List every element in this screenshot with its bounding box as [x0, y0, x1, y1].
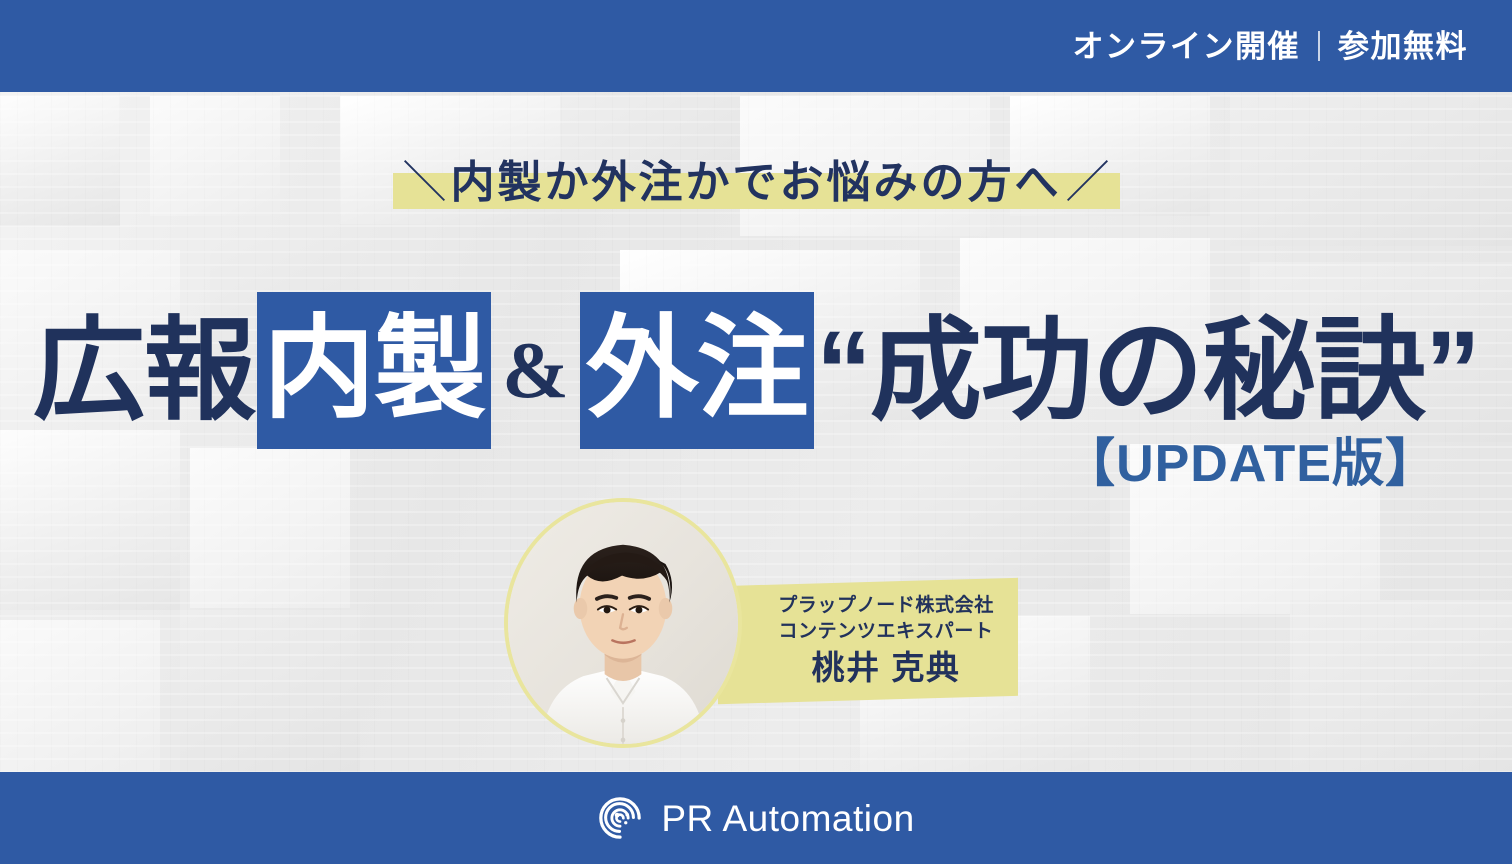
- headline-quote-open: “: [816, 299, 870, 442]
- topbar-divider: [1318, 31, 1320, 61]
- spiral-logo-icon: [597, 795, 643, 841]
- headline-row: 広報内製&外注“成功の秘訣”: [33, 292, 1479, 449]
- webinar-banner: オンライン開催 参加無料 ＼内製か外注かでお悩みの方へ／ 広報内製&外注“成功の…: [0, 0, 1512, 864]
- headline-ampersand: &: [493, 331, 578, 411]
- subtitle-text-row: ＼内製か外注かでお悩みの方へ／: [399, 155, 1114, 211]
- speaker-section: プラップノード株式会社 コンテンツエキスパート 桃井 克典: [504, 498, 1034, 760]
- speaker-portrait-photo: [504, 498, 742, 748]
- footer-logo-text: PR Automation: [661, 800, 914, 837]
- speaker-info: プラップノード株式会社 コンテンツエキスパート 桃井 克典: [718, 582, 1018, 700]
- top-info-bar-content: オンライン開催 参加無料: [1073, 31, 1469, 62]
- headline-quote-close: ”: [1425, 299, 1479, 442]
- free-admission-label: 参加無料: [1338, 31, 1468, 62]
- headline-gaichu-box: 外注: [580, 292, 814, 449]
- subtitle-open-slash: ＼: [399, 158, 451, 207]
- subtitle-text: 内製か外注かでお悩みの方へ: [451, 158, 1062, 207]
- speaker-role: コンテンツエキスパート: [778, 620, 993, 644]
- subtitle-box: ＼内製か外注かでお悩みの方へ／: [393, 155, 1120, 211]
- speaker-name: 桃井 克典: [812, 648, 961, 688]
- headline-naisei-box: 内製: [257, 292, 491, 449]
- headline-kouhou: 広報: [33, 299, 255, 442]
- footer-bar: PR Automation: [0, 772, 1512, 864]
- portrait-illustration: [508, 502, 738, 744]
- speaker-company: プラップノード株式会社: [778, 594, 994, 618]
- online-event-label: オンライン開催: [1073, 31, 1301, 62]
- update-version-badge: 【UPDATE版】: [1063, 438, 1438, 490]
- main-headline: 広報内製&外注“成功の秘訣”: [0, 292, 1512, 449]
- headline-seikou-no-hiketsu: 成功の秘訣: [870, 299, 1425, 442]
- top-info-bar: オンライン開催 参加無料: [0, 0, 1512, 92]
- subtitle-section: ＼内製か外注かでお悩みの方へ／: [0, 155, 1512, 211]
- subtitle-close-slash: ／: [1062, 158, 1114, 207]
